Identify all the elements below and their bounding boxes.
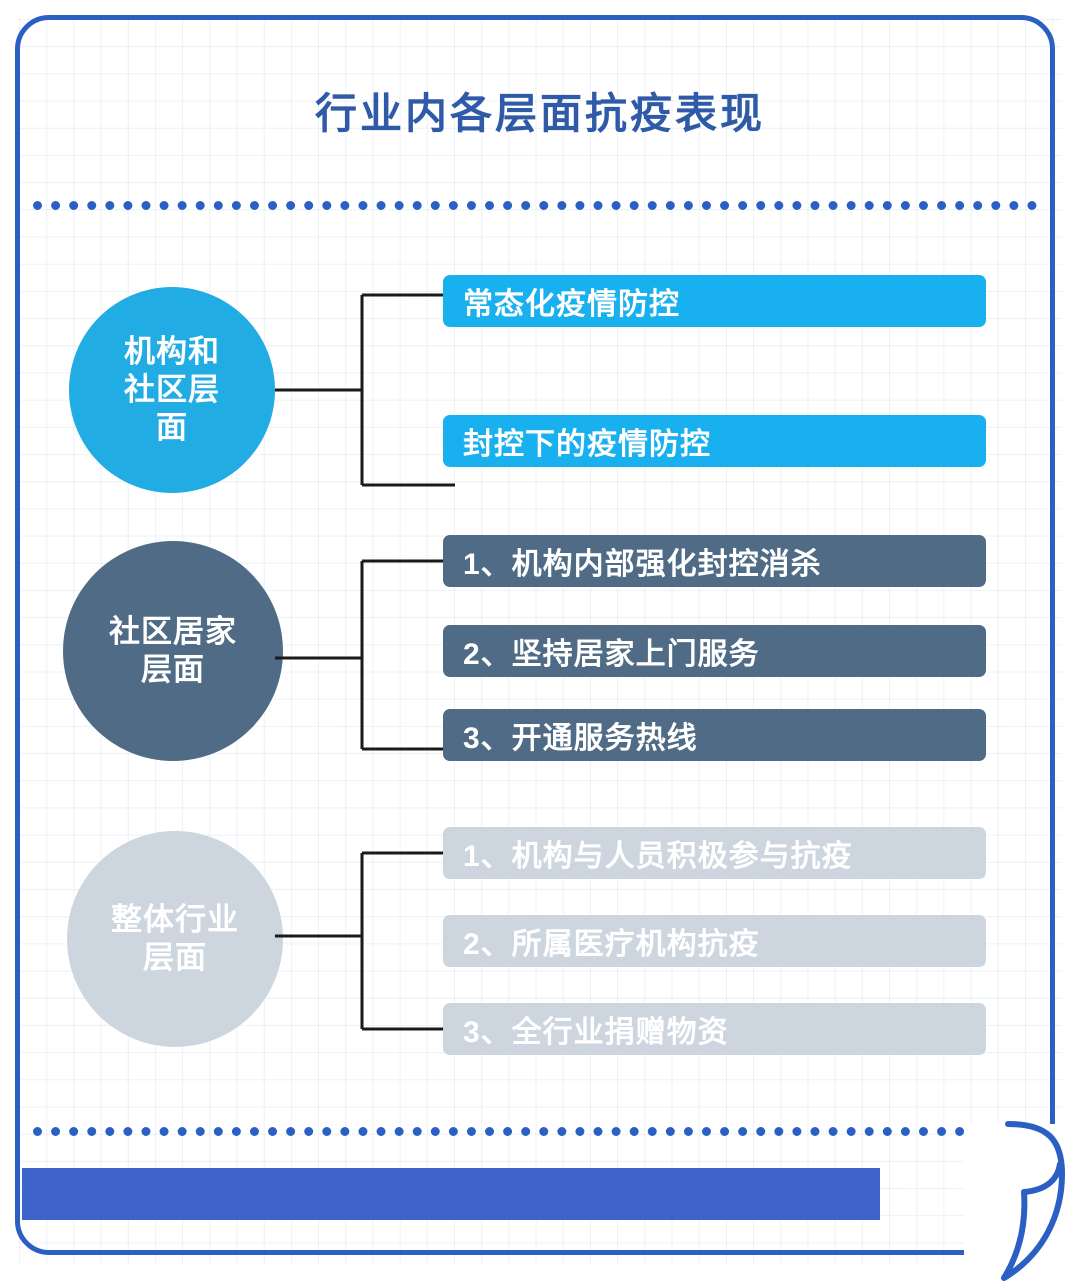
group-circle-label-2[interactable]: 整体行业层面 — [67, 831, 283, 1047]
group-bars-0: 常态化疫情防控 封控下的疫情防控 — [443, 267, 986, 513]
group-bars-2: 1、机构与人员积极参与抗疫 2、所属医疗机构抗疫 3、全行业捐赠物资 — [443, 803, 986, 1093]
infographic-canvas: 行业内各层面抗疫表现 机构和社区层面 常态化疫情防控 封控下的疫情防控 社区居家… — [0, 0, 1080, 1282]
group-circle-label-0[interactable]: 机构和社区层面 — [69, 287, 275, 493]
item-bar[interactable]: 3、全行业捐赠物资 — [443, 1003, 986, 1055]
footer-accent-bar — [22, 1168, 880, 1220]
bracket-connector-1 — [275, 513, 455, 803]
item-bar[interactable]: 1、机构与人员积极参与抗疫 — [443, 827, 986, 879]
item-bar[interactable]: 常态化疫情防控 — [443, 275, 986, 327]
item-bar[interactable]: 1、机构内部强化封控消杀 — [443, 535, 986, 587]
group-bars-1: 1、机构内部强化封控消杀 2、坚持居家上门服务 3、开通服务热线 — [443, 513, 986, 803]
item-bar[interactable]: 3、开通服务热线 — [443, 709, 986, 761]
bottom-dotted-divider — [33, 1127, 1037, 1136]
diagram-group-community-home: 社区居家层面 1、机构内部强化封控消杀 2、坚持居家上门服务 3、开通服务热线 — [0, 513, 1080, 803]
bracket-connector-0 — [275, 267, 455, 513]
group-circle-label-1[interactable]: 社区居家层面 — [63, 541, 283, 761]
bracket-connector-2 — [275, 803, 455, 1093]
diagram-group-institution-community: 机构和社区层面 常态化疫情防控 封控下的疫情防控 — [0, 267, 1080, 513]
page-fold-corner-icon — [920, 1082, 1080, 1282]
item-bar[interactable]: 2、所属医疗机构抗疫 — [443, 915, 986, 967]
fold-mask — [964, 1124, 1072, 1274]
diagram-group-whole-industry: 整体行业层面 1、机构与人员积极参与抗疫 2、所属医疗机构抗疫 3、全行业捐赠物… — [0, 803, 1080, 1093]
top-dotted-divider — [33, 201, 1037, 210]
item-bar[interactable]: 封控下的疫情防控 — [443, 415, 986, 467]
page-title: 行业内各层面抗疫表现 — [0, 88, 1080, 141]
item-bar[interactable]: 2、坚持居家上门服务 — [443, 625, 986, 677]
